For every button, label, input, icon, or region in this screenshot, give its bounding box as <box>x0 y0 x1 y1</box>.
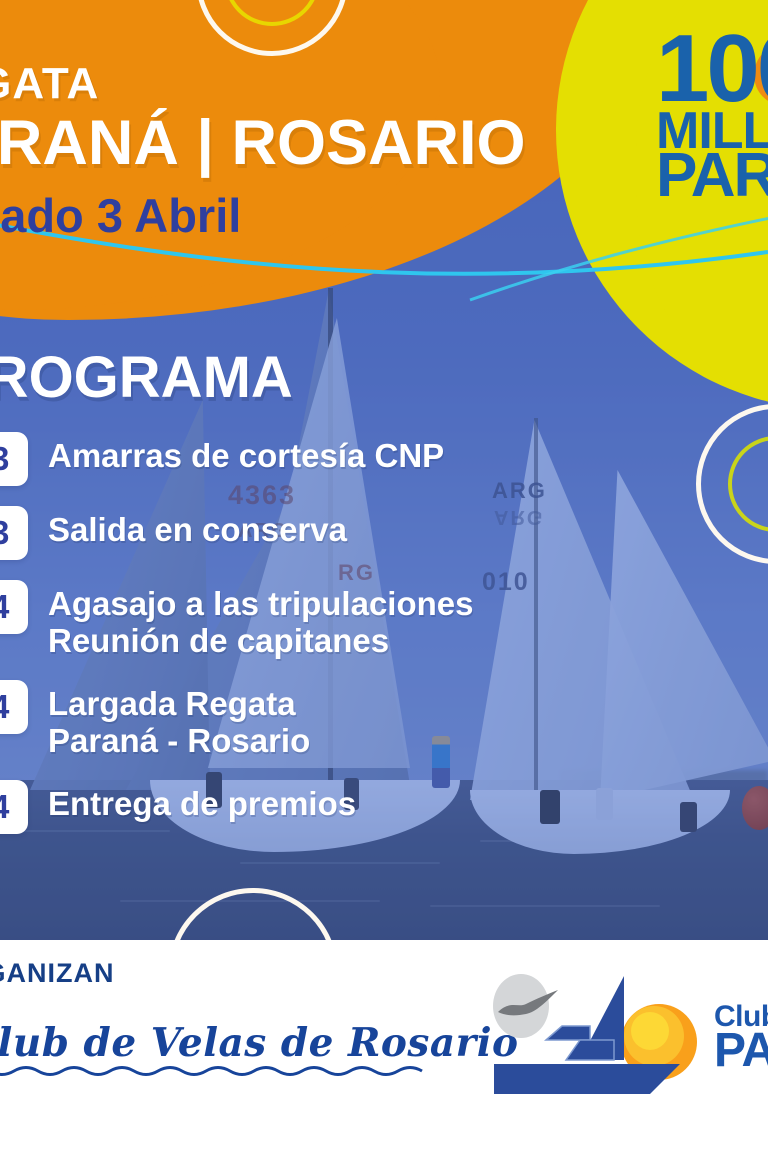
programa-item-text: Entrega de premios <box>48 780 356 823</box>
club-velas-rosario-logo: Club de Velas de Rosario <box>0 1020 436 1078</box>
title-regata: REGATA <box>0 62 634 106</box>
programa-item-text: Largada Regata Paraná - Rosario <box>48 680 310 760</box>
programa-item: 14 Largada Regata Paraná - Rosario <box>0 680 714 760</box>
event-logo-number: 100 <box>656 28 768 111</box>
programa-list: 13 Amarras de cortesía CNP 13 Salida en … <box>0 432 714 854</box>
programa-item: 14 Agasajo a las tripulaciones Reunión d… <box>0 580 714 660</box>
event-logo-parana: PARANÁ <box>656 149 768 202</box>
event-logo-number-text: 100 <box>656 15 768 122</box>
programa-heading: PROGRAMA <box>0 344 293 411</box>
programa-item-badge: 13 <box>0 432 28 486</box>
club-nautico-parana-logo: Club Náutico PARANÁ <box>484 968 768 1104</box>
organizan-label: ORGANIZAN <box>0 958 115 989</box>
programa-item: 14 Entrega de premios <box>0 780 714 834</box>
programa-item: 13 Salida en conserva <box>0 506 714 560</box>
club-nautico-parana-text: Club Náutico PARANÁ <box>714 1004 768 1073</box>
programa-item-badge: 13 <box>0 506 28 560</box>
programa-item-text: Amarras de cortesía CNP <box>48 432 444 475</box>
poster-root: ARG ARG 010 4363 ARG RG REGATA P <box>0 0 768 1152</box>
programa-item-text: Salida en conserva <box>48 506 347 549</box>
programa-item-badge: 14 <box>0 780 28 834</box>
title-route: PARANÁ | ROSARIO <box>0 110 634 176</box>
event-logo: 100 MILLAS PARANÁ <box>656 28 768 203</box>
programa-item-badge: 14 <box>0 680 28 734</box>
footer: ORGANIZAN Club de Velas de Rosario <box>0 940 768 1152</box>
club-velas-rosario-name: Club de Velas de Rosario <box>0 1020 436 1066</box>
title-date: Sábado 3 Abril <box>0 192 634 239</box>
programa-item-text: Agasajo a las tripulaciones Reunión de c… <box>48 580 474 660</box>
cnp-line2: PARANÁ <box>714 1030 768 1072</box>
programa-item-badge: 14 <box>0 580 28 634</box>
header-block: REGATA PARANÁ | ROSARIO Sábado 3 Abril <box>0 62 634 239</box>
programa-item: 13 Amarras de cortesía CNP <box>0 432 714 486</box>
